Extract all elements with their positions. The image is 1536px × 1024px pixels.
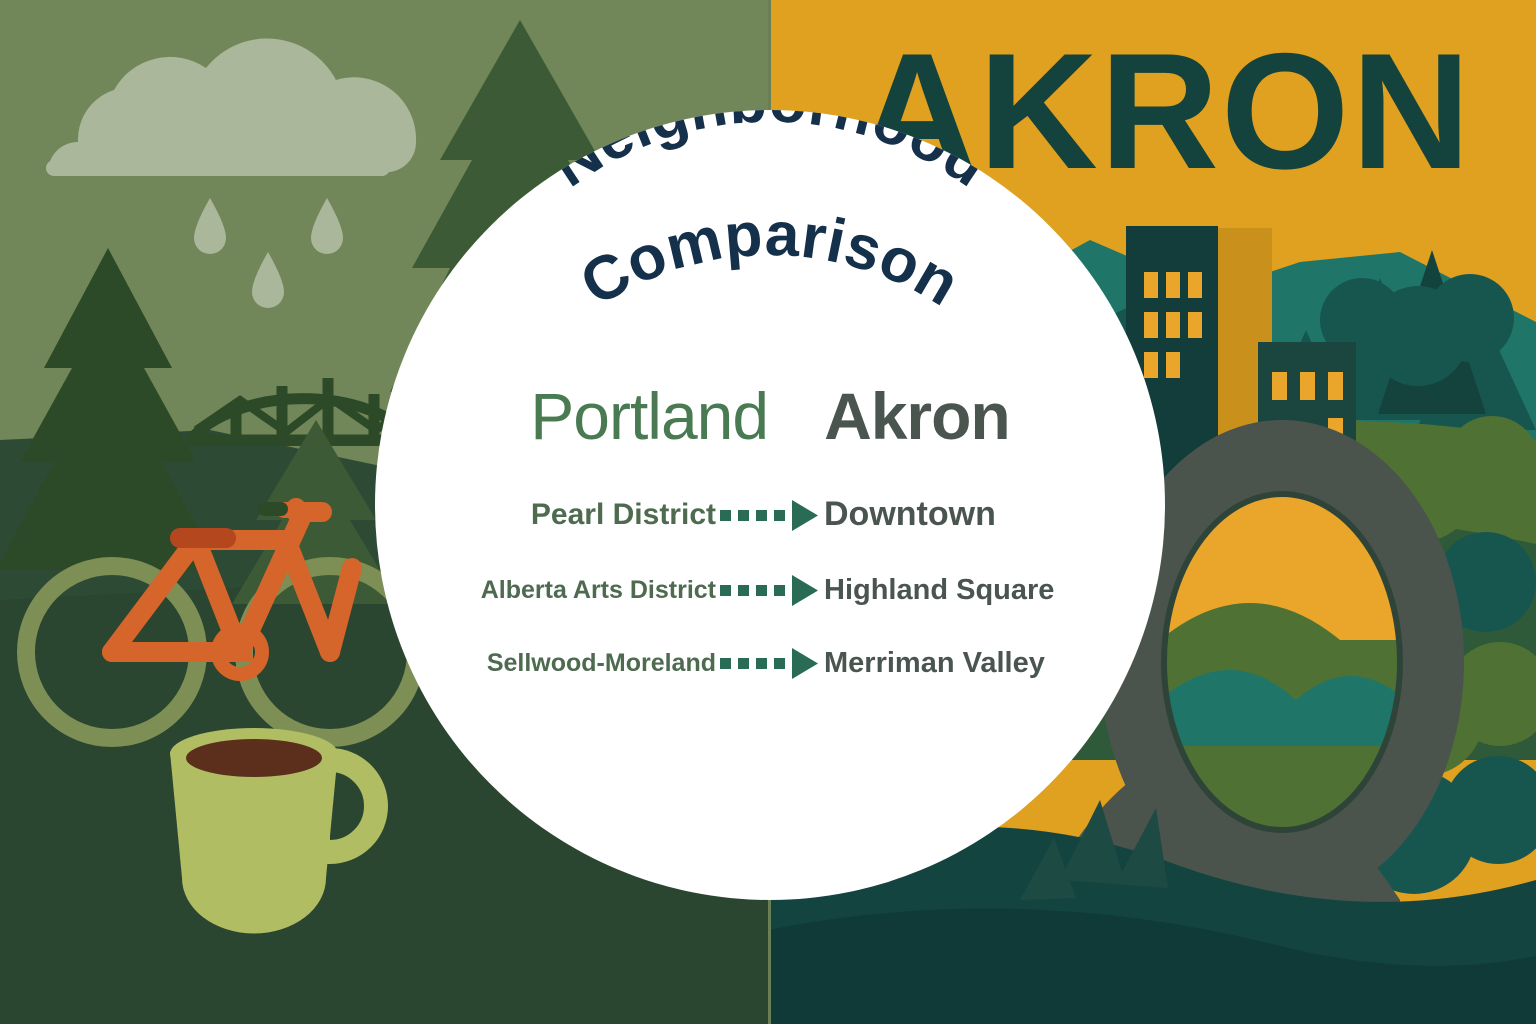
portland-neighborhood: Pearl District: [416, 498, 716, 532]
comparison-row: Alberta Arts District Highl: [375, 573, 1165, 607]
akron-neighborhood: Merriman Valley: [824, 647, 1124, 680]
city-header-akron: Akron: [824, 378, 1010, 454]
badge-title-line-2-text: Comparison: [569, 200, 971, 320]
maps-to-arrow-icon: [716, 646, 824, 680]
maps-to-arrow-icon: [716, 498, 824, 532]
badge-title-line-1: Neighborhood: [539, 110, 1001, 200]
city-header-portland: Portland: [530, 378, 768, 454]
poster-canvas: AKRON Neighborhood Comparison Portland: [0, 0, 1536, 1024]
comparison-row: Pearl District Downtown: [375, 495, 1165, 534]
comparison-rows: Pearl District Downtown: [375, 495, 1165, 680]
portland-neighborhood: Sellwood-Moreland: [416, 649, 716, 678]
badge-title-line-1-text: Neighborhood: [539, 110, 1001, 200]
maps-to-arrow-icon: [716, 573, 824, 607]
portland-neighborhood: Alberta Arts District: [416, 576, 716, 605]
comparison-badge: Neighborhood Comparison Portland Akron P…: [375, 110, 1165, 900]
badge-title-line-2: Comparison: [569, 200, 971, 320]
city-column-headers: Portland Akron: [375, 378, 1165, 454]
comparison-row: Sellwood-Moreland Merriman: [375, 646, 1165, 680]
akron-neighborhood: Downtown: [824, 495, 1124, 534]
akron-neighborhood: Highland Square: [824, 574, 1124, 607]
